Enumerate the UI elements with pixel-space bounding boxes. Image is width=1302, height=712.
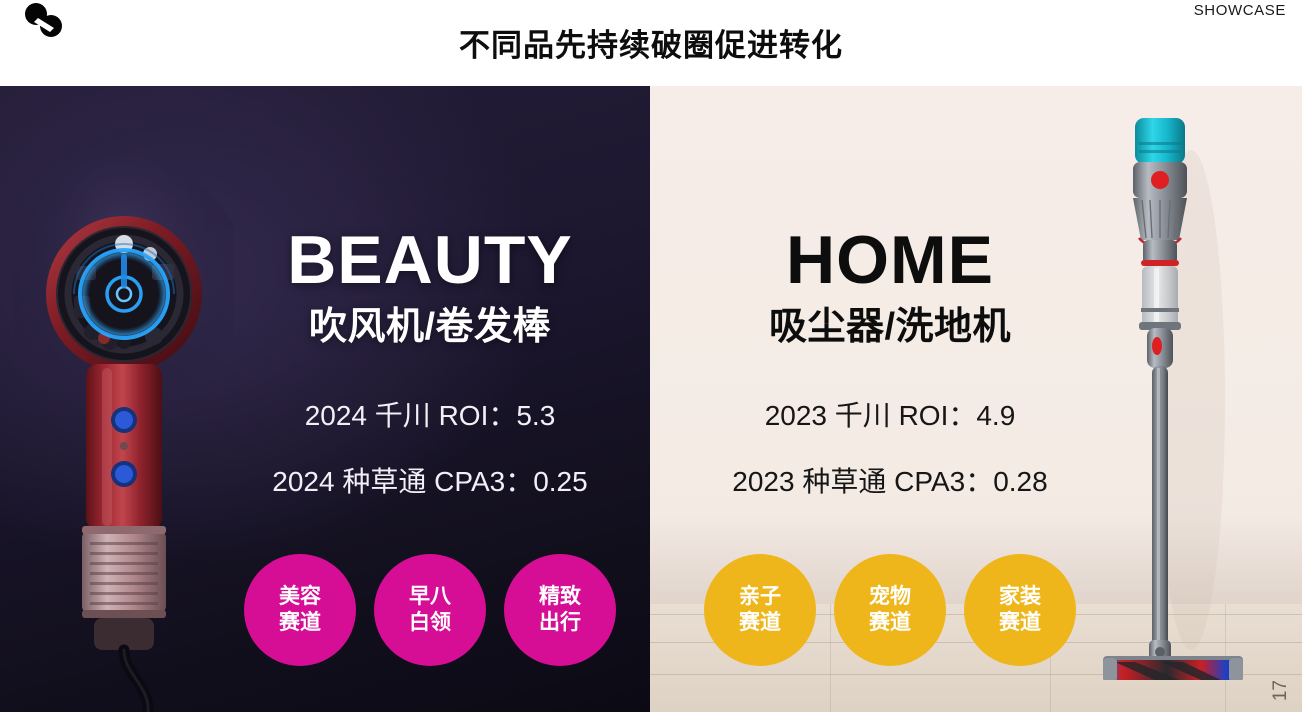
beauty-tag-1-line1: 美容 [279, 584, 321, 610]
panel-container: BEAUTY 吹风机/卷发棒 2024 千川 ROI：5.3 2024 种草通 … [0, 86, 1302, 712]
home-tag-2-line2: 赛道 [869, 610, 911, 636]
beauty-headline-cn: 吹风机/卷发棒 [230, 308, 630, 346]
home-tag-1[interactable]: 亲子 赛道 [704, 554, 816, 666]
panel-beauty: BEAUTY 吹风机/卷发棒 2024 千川 ROI：5.3 2024 种草通 … [0, 86, 650, 712]
home-tag-3-line1: 家装 [999, 584, 1041, 610]
home-tag-2-line1: 宠物 [869, 584, 911, 610]
beauty-text-block: BEAUTY 吹风机/卷发棒 2024 千川 ROI：5.3 2024 种草通 … [230, 86, 630, 712]
home-text-block: HOME 吸尘器/洗地机 2023 千川 ROI：4.9 2023 种草通 CP… [690, 86, 1090, 712]
beauty-tag-3-line2: 出行 [539, 610, 581, 636]
beauty-metric-cpa3: 2024 种草通 CPA3：0.25 [230, 468, 630, 496]
home-metric-roi: 2023 千川 ROI：4.9 [690, 402, 1090, 430]
home-headline-en: HOME [690, 226, 1090, 294]
beauty-metric-roi: 2024 千川 ROI：5.3 [230, 402, 630, 430]
beauty-tag-3-line1: 精致 [539, 584, 581, 610]
page-title: 不同品先持续破圈促进转化 [0, 20, 1302, 65]
home-tag-3[interactable]: 家装 赛道 [964, 554, 1076, 666]
home-headline-cn: 吸尘器/洗地机 [690, 308, 1090, 346]
dyson-cordless-vacuum-image [1095, 100, 1255, 680]
beauty-tag-1-line2: 赛道 [279, 610, 321, 636]
home-tag-list: 亲子 赛道 宠物 赛道 家装 赛道 [690, 554, 1090, 666]
beauty-tag-list: 美容 赛道 早八 白领 精致 出行 [230, 554, 630, 666]
home-tag-1-line2: 赛道 [739, 610, 781, 636]
beauty-tag-2-line2: 白领 [409, 610, 451, 636]
page-number: 17 [1270, 680, 1292, 701]
slide-root: SHOWCASE 不同品先持续破圈促进转化 [0, 0, 1302, 712]
panel-home: HOME 吸尘器/洗地机 2023 千川 ROI：4.9 2023 种草通 CP… [650, 86, 1302, 712]
home-tag-2[interactable]: 宠物 赛道 [834, 554, 946, 666]
beauty-tag-1[interactable]: 美容 赛道 [244, 554, 356, 666]
home-metric-cpa3: 2023 种草通 CPA3：0.28 [690, 468, 1090, 496]
beauty-tag-2-line1: 早八 [409, 584, 451, 610]
home-tag-3-line2: 赛道 [999, 610, 1041, 636]
beauty-headline-en: BEAUTY [230, 226, 630, 294]
showcase-label: SHOWCASE [1194, 2, 1286, 19]
dyson-hair-dryer-image [14, 146, 234, 712]
home-tag-1-line1: 亲子 [739, 584, 781, 610]
beauty-tag-2[interactable]: 早八 白领 [374, 554, 486, 666]
beauty-tag-3[interactable]: 精致 出行 [504, 554, 616, 666]
slide-header: SHOWCASE 不同品先持续破圈促进转化 [0, 0, 1302, 86]
